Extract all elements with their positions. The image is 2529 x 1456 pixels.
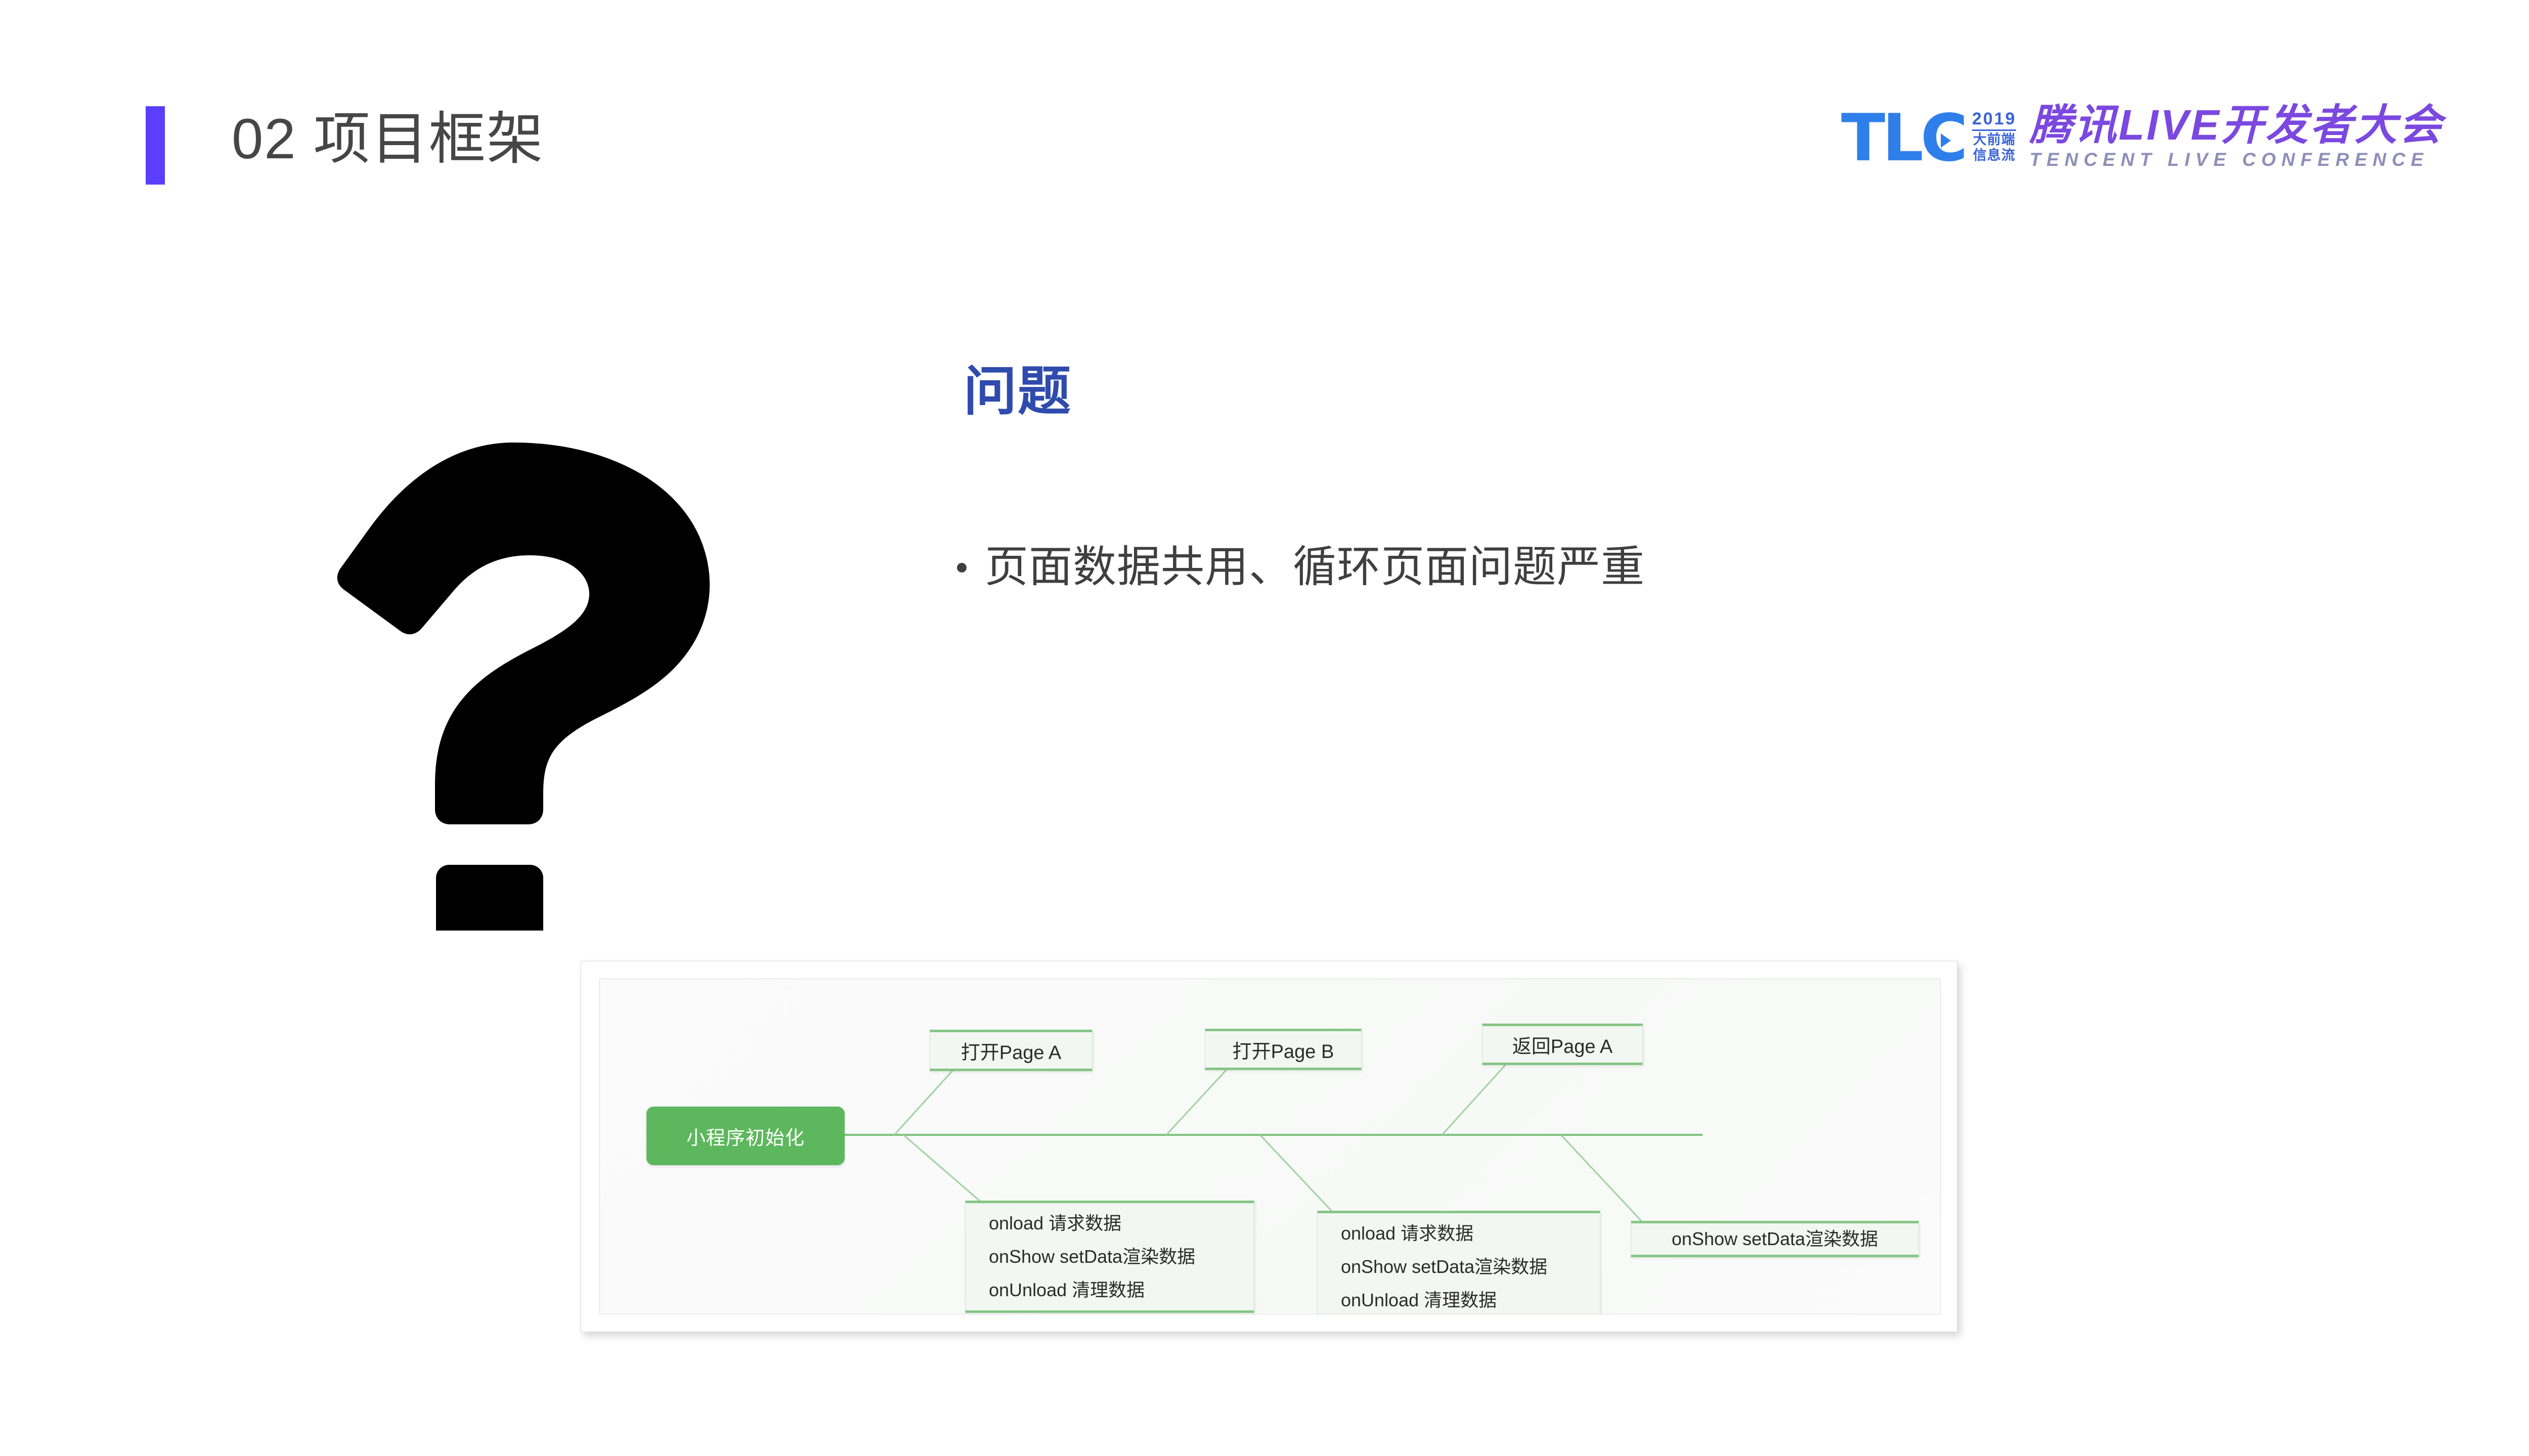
bullet-dot-icon [957, 563, 967, 572]
logo-year: 2019 [1972, 110, 2017, 131]
diagram-leaf-a-line-1: onload 请求数据 [989, 1207, 1254, 1240]
diagram-leaf-c-line-1: onShow setData渲染数据 [1672, 1222, 1878, 1256]
play-arrow-icon [1941, 134, 1951, 148]
diagram-node-return-page-a-label: 返回Page A [1512, 1031, 1613, 1058]
logo-name-cn: 腾讯LIVE开发者大会 [2029, 102, 2444, 148]
diagram-node-root[interactable]: 小程序初始化 [646, 1107, 845, 1165]
fishbone-diagram-frame: 小程序初始化 打开Page A 打开Page B 返回Page A onload… [581, 961, 1957, 1332]
logo-subtitle-line1: 大前端 [1973, 133, 2016, 147]
diagram-leaf-b-line-1: onload 请求数据 [1341, 1217, 1600, 1250]
logo-wordmark: 腾讯LIVE开发者大会 TENCENT LIVE CONFERENCE [2029, 102, 2444, 171]
diagram-leaf-a-line-3: onUnload 清理数据 [989, 1273, 1254, 1307]
title-accent-bar [146, 106, 165, 185]
diagram-node-open-page-a-label: 打开Page A [961, 1037, 1062, 1065]
slide-header: 02 项目框架 TLC 2019 大前端 信息流 腾讯LIVE开发者大会 TEN… [0, 0, 2529, 212]
diagram-node-lifecycle-return-a[interactable]: onShow setData渲染数据 [1631, 1221, 1919, 1257]
bullet-text: 页面数据共用、循环页面问题严重 [985, 539, 1645, 595]
diagram-node-open-page-b-label: 打开Page B [1233, 1036, 1334, 1064]
diagram-node-lifecycle-page-b[interactable]: onload 请求数据 onShow setData渲染数据 onUnload … [1317, 1211, 1600, 1314]
page-title: 02 项目框架 [232, 99, 544, 180]
tlc-mark-icon: TLC [1841, 106, 1965, 167]
diagram-leaf-a-line-2: onShow setData渲染数据 [989, 1240, 1254, 1273]
diagram-node-open-page-b[interactable]: 打开Page B [1205, 1029, 1362, 1070]
diagram-node-return-page-a[interactable]: 返回Page A [1482, 1024, 1643, 1065]
logo-year-block: 2019 大前端 信息流 [1972, 110, 2017, 162]
conference-logo: TLC 2019 大前端 信息流 腾讯LIVE开发者大会 TENCENT LIV… [1841, 96, 2444, 177]
diagram-node-lifecycle-page-a[interactable]: onload 请求数据 onShow setData渲染数据 onUnload … [965, 1201, 1254, 1313]
diagram-leaf-b-line-2: onShow setData渲染数据 [1341, 1250, 1600, 1284]
section-heading: 问题 [964, 359, 1072, 425]
logo-name-en: TENCENT LIVE CONFERENCE [2029, 148, 2444, 171]
diagram-node-open-page-a[interactable]: 打开Page A [930, 1030, 1093, 1071]
bullet-item: 页面数据共用、循环页面问题严重 [957, 539, 1645, 595]
diagram-leaf-b-line-3: onUnload 清理数据 [1341, 1284, 1600, 1314]
diagram-node-root-label: 小程序初始化 [686, 1122, 805, 1150]
logo-subtitle-line2: 信息流 [1973, 148, 2016, 162]
question-mark-icon [283, 394, 738, 931]
fishbone-diagram-canvas: 小程序初始化 打开Page A 打开Page B 返回Page A onload… [599, 979, 1941, 1314]
